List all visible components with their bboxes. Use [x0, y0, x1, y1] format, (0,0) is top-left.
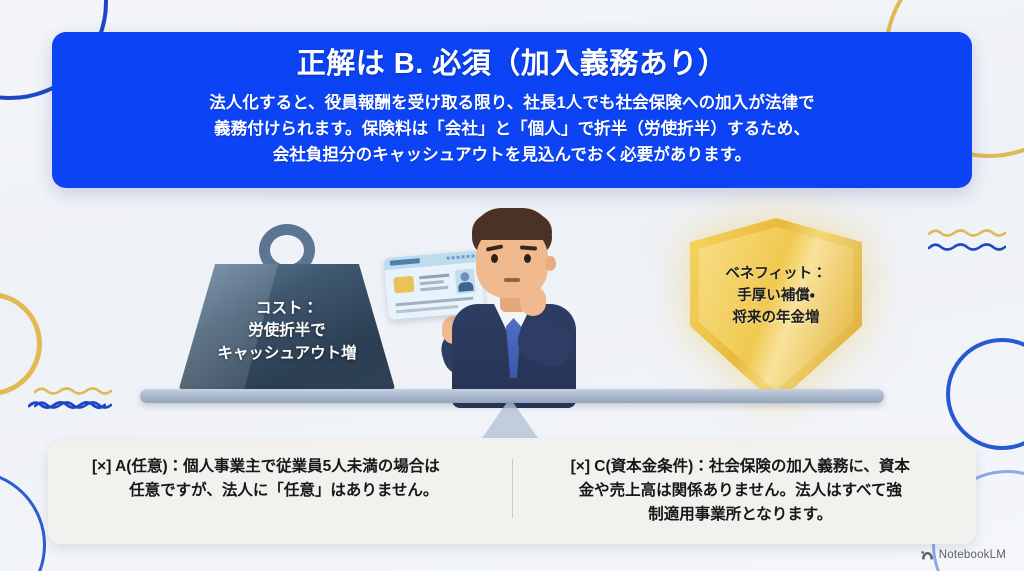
weight-cost-icon: コスト： 労使折半で キャッシュアウト増 [178, 224, 396, 394]
answer-description-line-3: 会社負担分のキャッシュアウトを見込んでおく必要があります。 [86, 142, 938, 168]
weight-label-line-3: キャッシュアウト増 [178, 343, 396, 365]
person-fringe [472, 214, 552, 240]
distractor-c: [×] C(資本金条件)：社会保険の加入義務に、資本 金や売上高は関係ありません… [513, 455, 969, 528]
distractor-card: [×] A(任意)：個人事業主で従業員5人未満の場合は 任意ですが、法人に「任意… [48, 441, 976, 544]
notebooklm-icon [921, 550, 934, 561]
ring-bottom-left-icon [0, 470, 46, 571]
id-card-bottom-line-2 [396, 305, 458, 313]
balance-fulcrum [482, 398, 538, 438]
distractor-c-line-3: 制適用事業所となります。 [535, 503, 947, 527]
shield-benefit-icon: ベネフィット： 手厚い補償・ 将来の年金増 [690, 218, 862, 404]
shield-label-line-2: 手厚い補償・ [690, 286, 862, 308]
distractor-c-line-1: [×] C(資本金条件)：社会保険の加入義務に、資本 [535, 455, 947, 479]
person-right-hand-chin [520, 286, 546, 316]
distractor-a: [×] A(任意)：個人事業主で従業員5人未満の場合は 任意ですが、法人に「任意… [56, 455, 512, 503]
answer-description-line-1: 法人化すると、役員報酬を受け取る限り、社長1人でも社会保険への加入が法律で [86, 90, 938, 116]
answer-description-line-2: 義務付けられます。保険料は「会社」と「個人」で折半（労使折半）するため、 [86, 116, 938, 142]
id-card-bottom-line-1 [395, 297, 473, 307]
answer-banner: 正解は B. 必須（加入義務あり） 法人化すると、役員報酬を受け取る限り、社長1… [52, 32, 972, 188]
person-eye-left [491, 254, 498, 263]
distractor-a-line-1: [×] A(任意)：個人事業主で従業員5人未満の場合は [78, 455, 490, 479]
notebooklm-label: NotebookLM [939, 549, 1006, 561]
id-card-chip-icon [393, 276, 414, 294]
id-card-line-1 [419, 274, 449, 280]
distractor-c-line-2: 金や売上高は関係ありません。法人はすべて強 [535, 479, 947, 503]
person-mouth [504, 278, 520, 282]
weight-label-line-1: コスト： [178, 298, 396, 320]
weight-label: コスト： 労使折半で キャッシュアウト増 [178, 298, 396, 365]
illustration-stage: コスト： 労使折半で キャッシュアウト増 [0, 206, 1024, 438]
person-eye-right [524, 254, 531, 263]
id-card-photo [455, 268, 476, 294]
person-ear [545, 256, 556, 271]
businessman-thinking-icon [432, 208, 592, 408]
id-card-photo-body [458, 282, 474, 292]
balance-beam [140, 389, 884, 403]
slide-canvas: 正解は B. 必須（加入義務あり） 法人化すると、役員報酬を受け取る限り、社長1… [0, 0, 1024, 571]
id-card-line-3 [420, 286, 448, 291]
weight-label-line-2: 労使折半で [178, 320, 396, 342]
answer-title: 正解は B. 必須（加入義務あり） [86, 46, 938, 83]
shield-label-line-3: 将来の年金増 [690, 308, 862, 330]
id-card-line-2 [420, 280, 444, 285]
id-card-photo-head [460, 272, 470, 282]
shield-label: ベネフィット： 手厚い補償・ 将来の年金増 [690, 264, 862, 329]
answer-description: 法人化すると、役員報酬を受け取る限り、社長1人でも社会保険への加入が法律で 義務… [86, 90, 938, 168]
notebooklm-watermark: NotebookLM [921, 549, 1006, 561]
distractor-a-line-2: 任意ですが、法人に「任意」はありません。 [78, 479, 490, 503]
shield-label-line-1: ベネフィット： [690, 264, 862, 286]
